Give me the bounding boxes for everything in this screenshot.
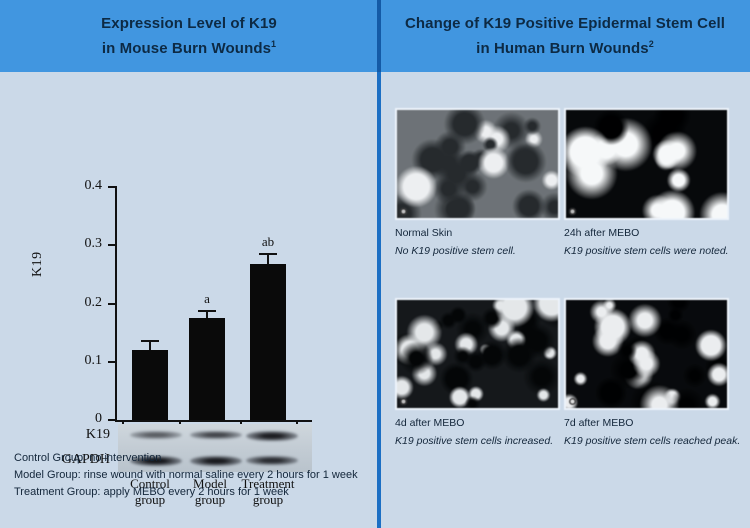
bar [132,350,168,420]
note-line: Model Group: rinse wound with normal sal… [14,467,364,484]
error-bar-cap [141,340,159,342]
micrograph-title: 7d after MEBO [564,417,729,429]
watermark-icon [569,208,576,215]
header-left-title: Expression Level of K19 in Mouse Burn Wo… [0,0,378,72]
y-tick [108,361,116,363]
blot-band [130,431,182,439]
y-tick-label: 0.4 [62,178,102,194]
error-bar-cap [259,253,277,255]
header-right-line2: in Human Burn Wounds2 [476,34,654,59]
left-panel: K19 00.10.20.30.4aab K19GAPDH Controlgro… [0,72,377,528]
header-right-line2-text: in Human Burn Wounds [476,40,649,57]
y-tick [108,244,116,246]
header-band: Expression Level of K19 in Mouse Burn Wo… [0,0,750,72]
y-tick-label: 0.2 [62,295,102,311]
micrograph-image [395,108,560,220]
bar-chart: K19 00.10.20.30.4aab [0,72,377,362]
note-line: Treatment Group: apply MEBO every 2 hour… [14,484,364,501]
micrograph-image [564,298,729,410]
header-right-title: Change of K19 Positive Epidermal Stem Ce… [380,0,750,72]
micrograph-description: K19 positive stem cells were noted. [564,245,729,257]
micrograph-cell: Normal SkinNo K19 positive stem cell. [395,108,560,257]
y-axis-title: K19 [30,251,46,277]
blot-band [190,431,242,439]
micrograph-title: 24h after MEBO [564,227,729,239]
micrograph-image [564,108,729,220]
watermark-icon [400,208,407,215]
error-bar-cap [198,310,216,312]
micrograph-cell: 4d after MEBOK19 positive stem cells inc… [395,298,560,447]
bar [189,318,225,420]
note-line: Control Group: no intervention [14,450,364,467]
micrograph-description: No K19 positive stem cell. [395,245,560,257]
y-tick-label: 0.1 [62,353,102,369]
right-panel: Normal SkinNo K19 positive stem cell.24h… [381,72,750,528]
significance-marker: ab [248,234,288,250]
y-tick [108,419,116,421]
header-left-line2: in Mouse Burn Wounds1 [102,34,276,59]
micrograph-cell: 24h after MEBOK19 positive stem cells we… [564,108,729,257]
blot-row-label: K19 [40,427,110,443]
y-tick [108,186,116,188]
significance-marker: a [187,291,227,307]
micrograph-description: K19 positive stem cells increased. [395,435,560,447]
micrograph-title: 4d after MEBO [395,417,560,429]
y-tick-label: 0 [62,411,102,427]
watermark-icon [569,398,576,405]
blot-band [246,431,298,441]
header-right-line1: Change of K19 Positive Epidermal Stem Ce… [405,13,725,34]
y-tick [108,303,116,305]
bar [250,264,286,420]
header-left-line1: Expression Level of K19 [101,13,277,34]
figure-poster: Expression Level of K19 in Mouse Burn Wo… [0,0,750,528]
header-right-superscript: 2 [649,39,654,49]
header-left-superscript: 1 [271,39,276,49]
micrograph-title: Normal Skin [395,227,560,239]
panel-divider-header [377,0,381,72]
x-axis-line [115,420,312,422]
blot-row [118,425,312,447]
micrograph-cell: 7d after MEBOK19 positive stem cells rea… [564,298,729,447]
group-definitions-notes: Control Group: no interventionModel Grou… [14,450,364,501]
y-tick-label: 0.3 [62,236,102,252]
micrograph-image [395,298,560,410]
header-left-line2-text: in Mouse Burn Wounds [102,40,271,57]
micrograph-description: K19 positive stem cells reached peak. [564,435,729,447]
watermark-icon [400,398,407,405]
